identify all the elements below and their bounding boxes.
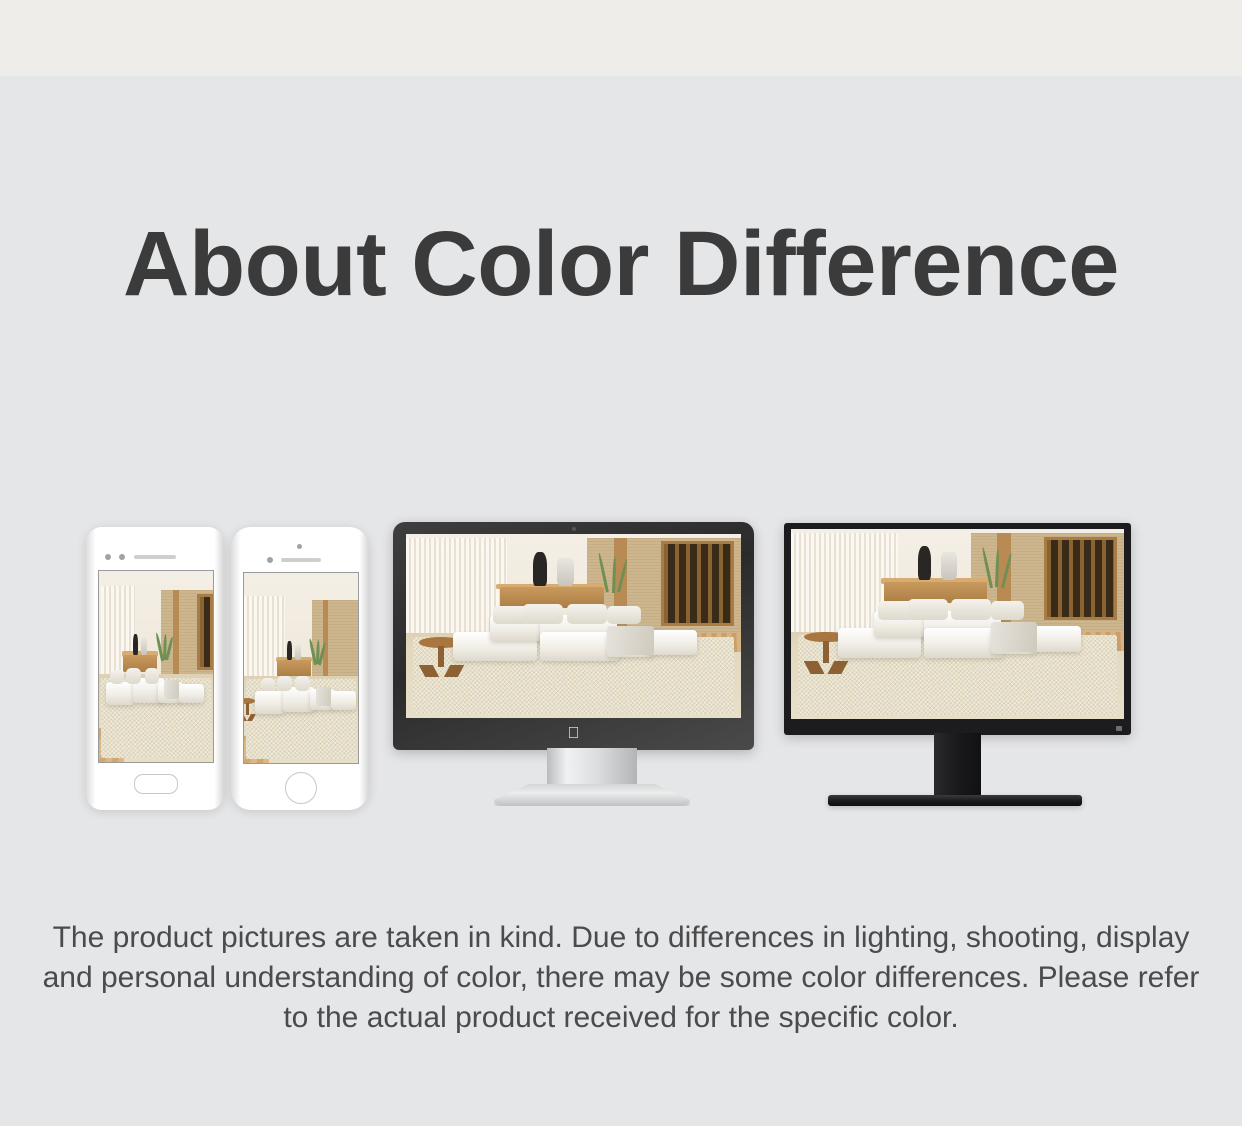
monitor-screen bbox=[791, 529, 1124, 719]
room-photo bbox=[244, 573, 358, 763]
room-photo bbox=[791, 529, 1124, 719]
imac-stand-foot bbox=[494, 784, 690, 806]
front-sensor-icon bbox=[119, 554, 125, 560]
apple-logo-icon:  bbox=[566, 725, 582, 743]
home-button[interactable] bbox=[285, 772, 317, 804]
device-black-monitor bbox=[784, 523, 1131, 735]
page-root: About Color Difference bbox=[0, 0, 1242, 1126]
device-phone-android bbox=[86, 527, 224, 810]
monitor-stand-neck bbox=[934, 733, 981, 799]
room-photo bbox=[406, 534, 741, 718]
phone-iphone-screen bbox=[243, 572, 359, 764]
power-led-icon bbox=[1116, 726, 1122, 731]
earpiece-speaker bbox=[134, 555, 176, 559]
home-button[interactable] bbox=[134, 774, 178, 794]
device-imac-display:  bbox=[393, 522, 754, 750]
color-difference-disclaimer: The product pictures are taken in kind. … bbox=[39, 918, 1204, 1038]
device-phone-iphone bbox=[231, 527, 369, 810]
front-camera-icon bbox=[297, 544, 302, 549]
monitor-stand-base bbox=[828, 795, 1082, 806]
top-band bbox=[0, 0, 1242, 75]
webcam-icon bbox=[572, 527, 576, 531]
front-camera-icon bbox=[105, 554, 111, 560]
proximity-sensor-icon bbox=[267, 557, 273, 563]
imac-screen bbox=[406, 534, 741, 718]
room-photo bbox=[99, 571, 213, 762]
imac-stand-neck bbox=[547, 748, 637, 788]
phone-android-screen bbox=[98, 570, 214, 763]
earpiece-speaker bbox=[281, 558, 321, 562]
page-title: About Color Difference bbox=[0, 216, 1242, 313]
